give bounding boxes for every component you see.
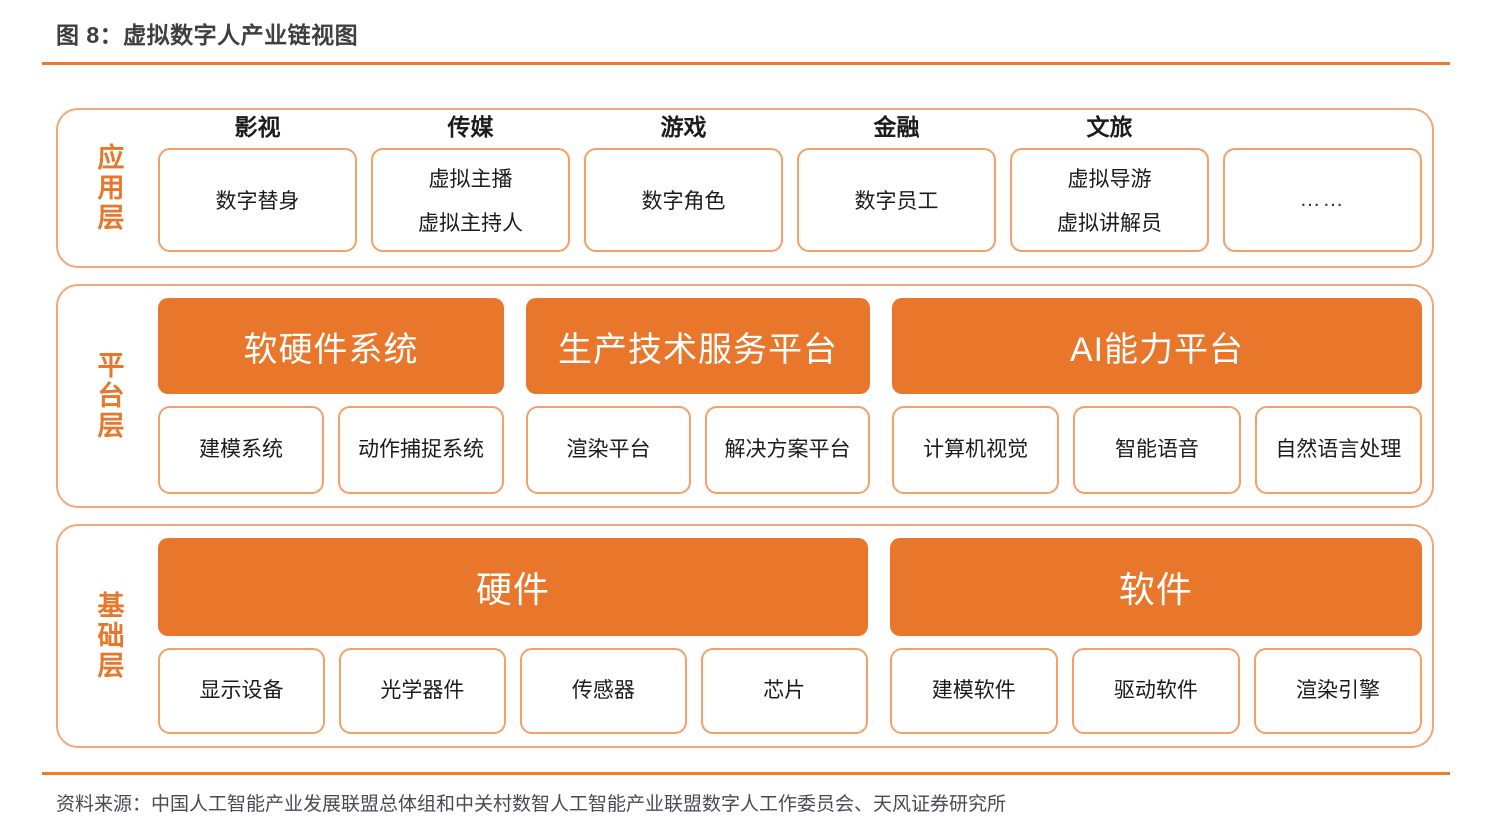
app-column-media: 传媒 虚拟主播 虚拟主持人 <box>371 110 570 258</box>
platform-banner-hardware-software-system[interactable]: 软硬件系统 <box>158 298 504 394</box>
app-item-label: 数字员工 <box>855 185 939 215</box>
app-item-label: 虚拟导游 <box>1068 163 1152 193</box>
platform-items-ai-capability-platform: 计算机视觉 智能语音 自然语言处理 <box>892 406 1422 494</box>
platform-item-box[interactable]: 计算机视觉 <box>892 406 1059 494</box>
app-item-label: 虚拟主持人 <box>418 207 523 237</box>
app-category-game: 游戏 <box>584 110 783 148</box>
source-text: 资料来源：中国人工智能产业发展联盟总体组和中关村数智人工智能产业联盟数字人工作委… <box>56 789 1006 816</box>
base-item-box[interactable]: 芯片 <box>701 648 868 734</box>
base-group-software: 软件 建模软件 驱动软件 渲染引擎 <box>890 538 1422 734</box>
app-column-tourism: 文旅 虚拟导游 虚拟讲解员 <box>1010 110 1209 258</box>
app-box-finance[interactable]: 数字员工 <box>797 148 996 252</box>
platform-item-box[interactable]: 建模系统 <box>158 406 324 494</box>
app-item-label: 虚拟主播 <box>429 163 513 193</box>
platform-group-production-service-platform: 生产技术服务平台 渲染平台 解决方案平台 <box>526 298 870 494</box>
page-title: 图 8：虚拟数字人产业链视图 <box>56 16 358 50</box>
application-layer-body: 影视 数字替身 传媒 虚拟主播 虚拟主持人 游戏 数字角色 金融 数字员工 <box>158 110 1432 266</box>
app-column-finance: 金融 数字员工 <box>797 110 996 258</box>
base-items-hardware: 显示设备 光学器件 传感器 芯片 <box>158 648 868 734</box>
platform-item-box[interactable]: 智能语音 <box>1073 406 1240 494</box>
application-layer: 应用层 影视 数字替身 传媒 虚拟主播 虚拟主持人 游戏 数字角色 金融 数字员… <box>56 108 1434 268</box>
platform-item-box[interactable]: 解决方案平台 <box>705 406 870 494</box>
app-column-more: …… <box>1223 110 1422 258</box>
base-item-box[interactable]: 传感器 <box>520 648 687 734</box>
source-divider <box>42 772 1450 775</box>
platform-item-box[interactable]: 动作捕捉系统 <box>338 406 504 494</box>
app-category-finance: 金融 <box>797 110 996 148</box>
platform-banner-production-service-platform[interactable]: 生产技术服务平台 <box>526 298 870 394</box>
app-column-film: 影视 数字替身 <box>158 110 357 258</box>
platform-item-box[interactable]: 自然语言处理 <box>1255 406 1422 494</box>
app-box-game[interactable]: 数字角色 <box>584 148 783 252</box>
app-column-game: 游戏 数字角色 <box>584 110 783 258</box>
base-layer-label: 基础层 <box>58 526 158 746</box>
base-layer-body: 硬件 显示设备 光学器件 传感器 芯片 软件 建模软件 驱动软件 渲染引擎 <box>158 526 1432 746</box>
base-item-box[interactable]: 显示设备 <box>158 648 325 734</box>
app-category-tourism: 文旅 <box>1010 110 1209 148</box>
base-layer: 基础层 硬件 显示设备 光学器件 传感器 芯片 软件 建模软件 驱动软件 渲染引… <box>56 524 1434 748</box>
base-banner-software[interactable]: 软件 <box>890 538 1422 636</box>
base-item-box[interactable]: 驱动软件 <box>1072 648 1240 734</box>
application-layer-label: 应用层 <box>58 110 158 266</box>
app-category-film: 影视 <box>158 110 357 148</box>
base-item-box[interactable]: 光学器件 <box>339 648 506 734</box>
title-divider <box>42 62 1450 65</box>
app-category-media: 传媒 <box>371 110 570 148</box>
base-item-box[interactable]: 建模软件 <box>890 648 1058 734</box>
app-category-more <box>1223 110 1422 148</box>
platform-items-production-service-platform: 渲染平台 解决方案平台 <box>526 406 870 494</box>
app-box-more[interactable]: …… <box>1223 148 1422 252</box>
base-banner-hardware[interactable]: 硬件 <box>158 538 868 636</box>
platform-layer: 平台层 软硬件系统 建模系统 动作捕捉系统 生产技术服务平台 渲染平台 解决方案… <box>56 284 1434 508</box>
base-item-box[interactable]: 渲染引擎 <box>1254 648 1422 734</box>
platform-group-hardware-software-system: 软硬件系统 建模系统 动作捕捉系统 <box>158 298 504 494</box>
app-box-media[interactable]: 虚拟主播 虚拟主持人 <box>371 148 570 252</box>
app-box-tourism[interactable]: 虚拟导游 虚拟讲解员 <box>1010 148 1209 252</box>
platform-items-hardware-software-system: 建模系统 动作捕捉系统 <box>158 406 504 494</box>
app-item-label: 虚拟讲解员 <box>1057 207 1162 237</box>
base-group-hardware: 硬件 显示设备 光学器件 传感器 芯片 <box>158 538 868 734</box>
platform-layer-body: 软硬件系统 建模系统 动作捕捉系统 生产技术服务平台 渲染平台 解决方案平台 A… <box>158 286 1432 506</box>
app-box-film[interactable]: 数字替身 <box>158 148 357 252</box>
base-items-software: 建模软件 驱动软件 渲染引擎 <box>890 648 1422 734</box>
platform-item-box[interactable]: 渲染平台 <box>526 406 691 494</box>
app-item-label: …… <box>1300 188 1346 212</box>
app-item-label: 数字替身 <box>216 185 300 215</box>
platform-layer-label: 平台层 <box>58 286 158 506</box>
platform-group-ai-capability-platform: AI能力平台 计算机视觉 智能语音 自然语言处理 <box>892 298 1422 494</box>
app-item-label: 数字角色 <box>642 185 726 215</box>
platform-banner-ai-capability-platform[interactable]: AI能力平台 <box>892 298 1422 394</box>
